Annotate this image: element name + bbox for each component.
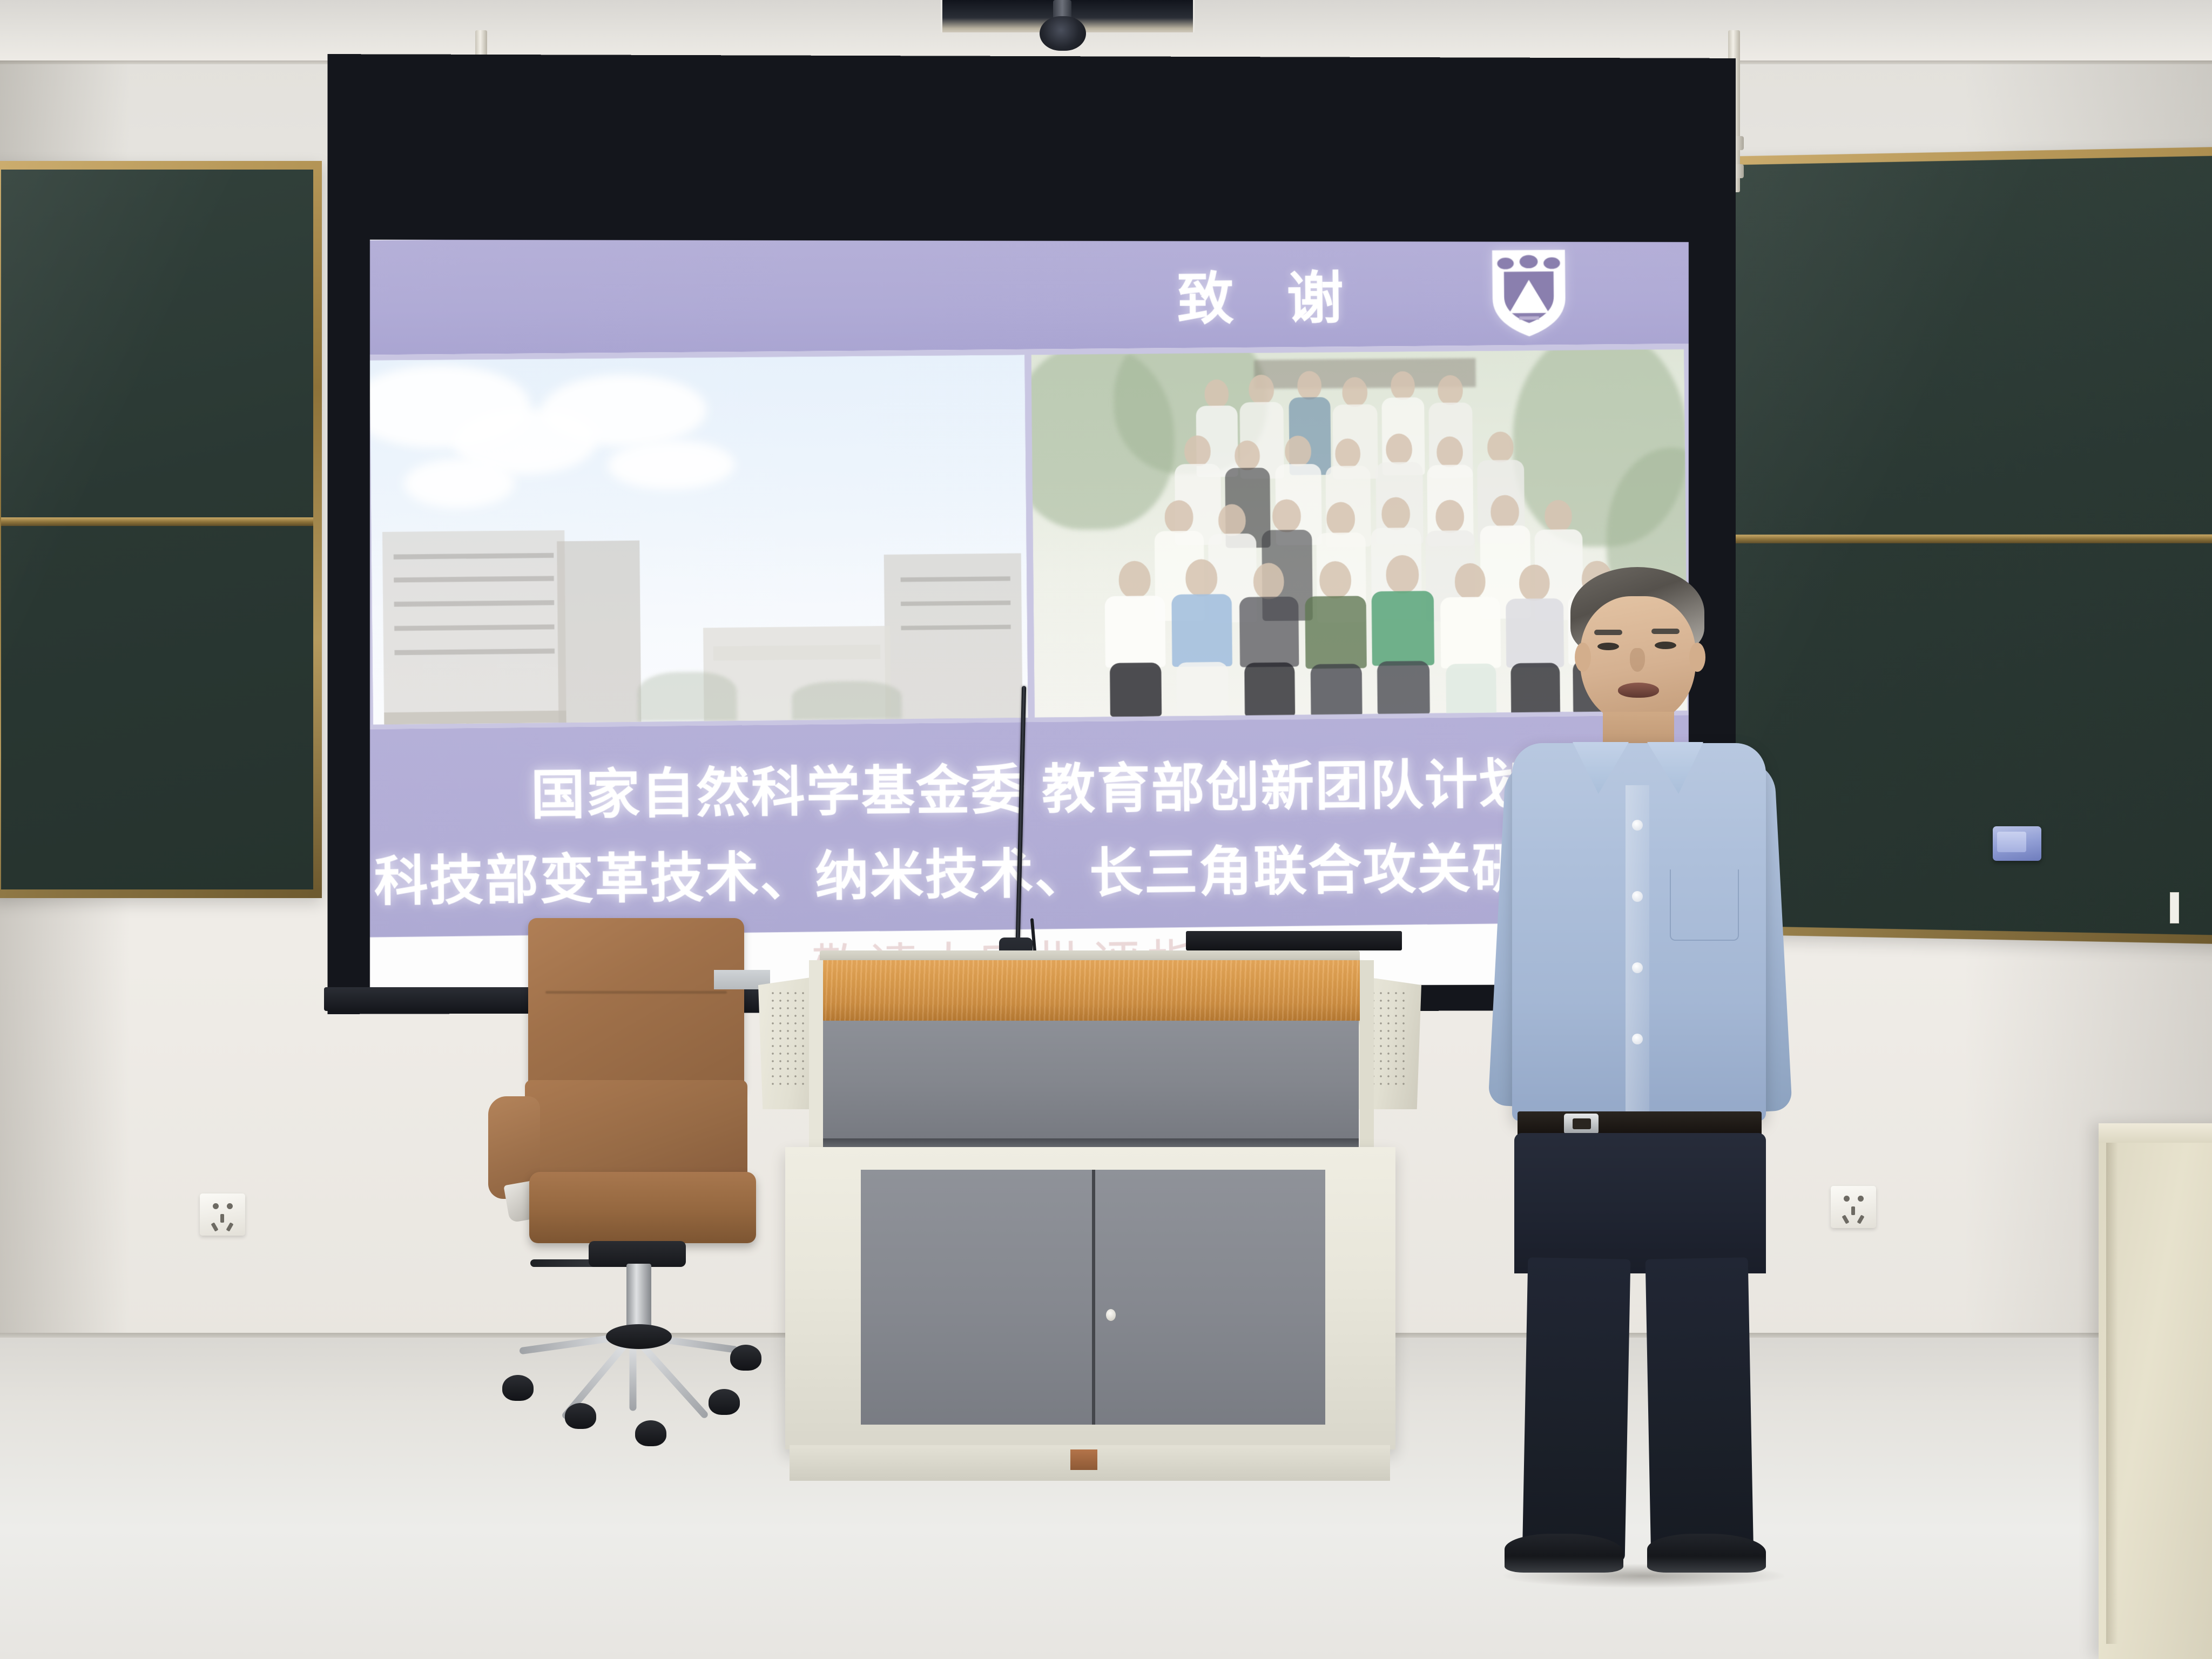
blackboard-eraser[interactable]: [1993, 826, 2041, 861]
podium-cabinet-door-left[interactable]: [861, 1170, 1092, 1425]
presenter-belt-buckle: [1564, 1114, 1599, 1134]
lectern-podium[interactable]: [770, 941, 1407, 1500]
chair-caster: [730, 1345, 761, 1371]
presenter-shirt-pocket: [1670, 869, 1739, 941]
presenter-shirt-placket: [1626, 785, 1649, 1118]
chair-tilt-mechanism: [589, 1241, 686, 1267]
wooden-cabinet[interactable]: [2099, 1123, 2212, 1659]
presenter-trousers-top: [1514, 1133, 1766, 1273]
presenter-leg-left: [1522, 1257, 1631, 1562]
blackboard-label-tag: [2170, 892, 2179, 923]
university-shield-crest-icon: [1487, 246, 1571, 340]
presenter-shoe-right: [1647, 1534, 1766, 1573]
podium-cabinet-door-right[interactable]: [1094, 1170, 1325, 1425]
campus-buildings-photo: [370, 355, 1028, 725]
chair-caster: [709, 1389, 740, 1415]
podium-plinth-marking: [1070, 1449, 1097, 1470]
presenter-shirt-button: [1632, 962, 1643, 973]
wall-power-outlet[interactable]: [1831, 1186, 1876, 1228]
lecture-hall-scene: 致 谢: [0, 0, 2212, 1659]
presenter-eye: [1597, 643, 1619, 650]
podium-cabinet-lock-icon[interactable]: [1106, 1309, 1116, 1321]
presenter-brow: [1594, 630, 1622, 635]
wall-power-outlet[interactable]: [200, 1193, 245, 1236]
chair-seat: [529, 1172, 756, 1243]
chair-caster: [565, 1403, 596, 1429]
presenter-ear: [1689, 643, 1705, 672]
chair-base-hub: [606, 1324, 672, 1349]
presenter-leg-right: [1645, 1257, 1754, 1562]
presenter-eye: [1655, 642, 1676, 649]
presenter-ear: [1575, 643, 1591, 672]
chair-backrest: [528, 918, 744, 1092]
chair-caster: [635, 1420, 666, 1446]
podium-upper-body: [809, 960, 1374, 1149]
presenter-brow: [1651, 629, 1680, 634]
blackboard-left: [0, 161, 322, 898]
presenter-shirt-button: [1632, 1034, 1643, 1044]
presenter: [1458, 567, 1815, 1555]
podium-cabinet[interactable]: [785, 1147, 1395, 1449]
podium-door-seam: [1092, 1170, 1095, 1425]
chair-gas-cylinder: [626, 1264, 651, 1327]
presenter-mouth: [1618, 683, 1659, 698]
presenter-shirt-button: [1632, 820, 1643, 831]
ceiling-camera-lens-icon: [1040, 16, 1086, 51]
chair-caster: [502, 1375, 534, 1401]
presenter-shirt-button: [1632, 891, 1643, 902]
office-chair[interactable]: [464, 918, 778, 1464]
presenter-nose: [1630, 648, 1645, 672]
podium-monitor[interactable]: [1186, 931, 1402, 950]
slide-title: 致 谢: [1176, 251, 1362, 335]
blackboard-left-frame: [0, 161, 322, 898]
presenter-shoe-left: [1505, 1534, 1623, 1573]
